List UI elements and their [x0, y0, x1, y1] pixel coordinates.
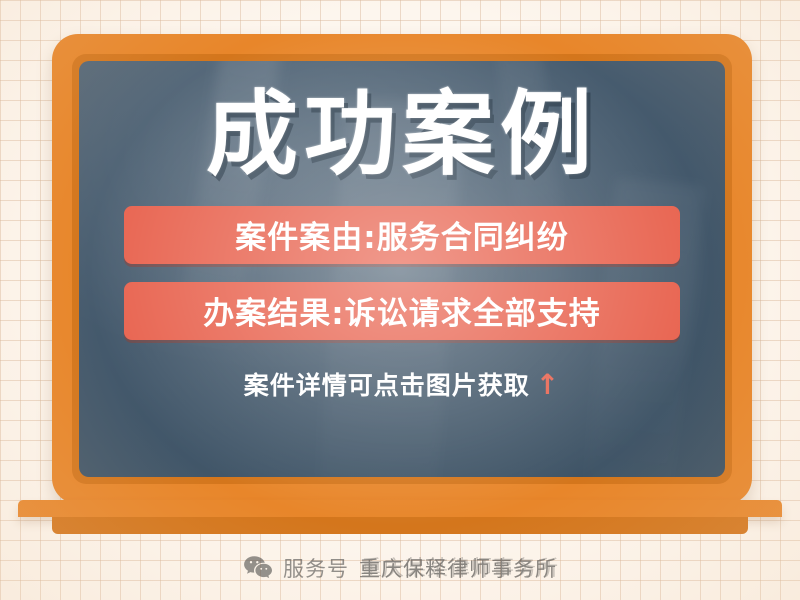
poster-canvas: 成功案例 案件案由:服务合同纠纷 办案结果:诉讼请求全部支持 案件详情可点击图片…	[0, 0, 800, 600]
blackboard-content: 成功案例 案件案由:服务合同纠纷 办案结果:诉讼请求全部支持 案件详情可点击图片…	[79, 61, 725, 477]
footer-firm-name: 重庆保释律师事务所 重庆某某律师事务所	[359, 553, 557, 583]
footer-service-label: 服务号	[283, 553, 349, 583]
case-reason-value: 服务合同纠纷	[377, 220, 569, 256]
page-title: 成功案例	[206, 87, 598, 184]
case-detail-hint[interactable]: 案件详情可点击图片获取 ↑	[244, 366, 560, 402]
case-result-text: 办案结果:诉讼请求全部支持	[203, 288, 600, 333]
case-result-label: 办案结果:	[203, 296, 344, 332]
chalk-tray	[18, 500, 782, 534]
blackboard: 成功案例 案件案由:服务合同纠纷 办案结果:诉讼请求全部支持 案件详情可点击图片…	[52, 34, 752, 504]
footer-firm-name-text: 重庆保释律师事务所	[359, 557, 557, 581]
case-result-value: 诉讼请求全部支持	[345, 296, 601, 332]
case-result-bar: 办案结果:诉讼请求全部支持	[124, 282, 680, 340]
blackboard-surface: 成功案例 案件案由:服务合同纠纷 办案结果:诉讼请求全部支持 案件详情可点击图片…	[79, 61, 725, 477]
up-arrow-icon: ↑	[536, 371, 560, 399]
case-reason-bar: 案件案由:服务合同纠纷	[124, 206, 680, 264]
wechat-icon	[243, 555, 273, 581]
chalk-tray-bottom	[52, 517, 748, 534]
case-reason-label: 案件案由:	[235, 220, 376, 256]
case-detail-hint-text: 案件详情可点击图片获取	[244, 366, 530, 402]
footer-watermark: 服务号 重庆保释律师事务所 重庆某某律师事务所	[0, 546, 800, 590]
chalk-tray-top	[18, 500, 782, 517]
case-reason-text: 案件案由:服务合同纠纷	[235, 212, 568, 257]
